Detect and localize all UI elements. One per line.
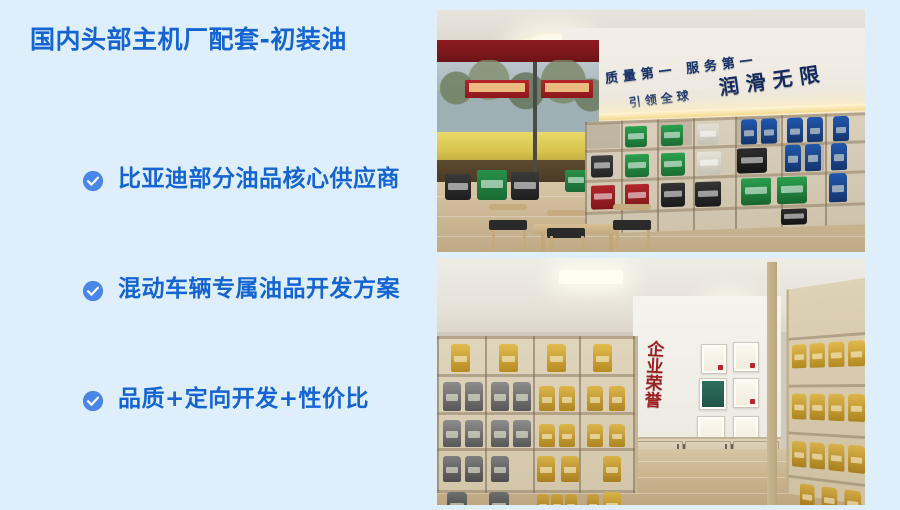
oil-bottle <box>587 424 603 447</box>
oil-bottle <box>810 343 825 368</box>
oil-bucket <box>697 151 721 175</box>
oil-bottle <box>761 118 777 144</box>
shelf-side-panel <box>767 262 777 505</box>
oil-bucket <box>565 170 587 192</box>
oil-bottle <box>807 117 823 143</box>
oil-bottle <box>800 483 815 505</box>
oil-bottle <box>848 340 865 367</box>
product-shelving-right <box>786 278 865 505</box>
oil-bottle <box>447 492 467 505</box>
chair <box>547 210 585 216</box>
oil-bottle <box>844 489 861 505</box>
oil-bottle <box>609 386 625 411</box>
product-shelving-left <box>437 336 638 493</box>
oil-bottle <box>561 456 579 482</box>
chair <box>613 204 651 210</box>
oil-bottle <box>443 420 461 447</box>
oil-bottle <box>848 394 865 422</box>
oil-bottle <box>828 443 844 471</box>
oil-bottle <box>787 117 803 143</box>
oil-bottle <box>829 173 847 203</box>
street-shopfront <box>465 80 529 98</box>
oil-bottle <box>603 492 621 505</box>
oil-bottle <box>443 456 461 482</box>
oil-bottle <box>828 341 844 367</box>
oil-bottle <box>465 456 483 482</box>
oil-bottle <box>491 420 509 447</box>
list-item: 品质+定向开发+性价比 <box>0 380 437 490</box>
oil-bottle <box>489 492 509 505</box>
left-content-column: 国内头部主机厂配套-初装油 比亚迪部分油品核心供应商 <box>0 0 437 510</box>
slide-root: 国内头部主机厂配套-初装油 比亚迪部分油品核心供应商 <box>0 0 900 510</box>
chair <box>613 220 651 230</box>
oil-bottle <box>537 456 555 482</box>
list-item-label: 比亚迪部分油品核心供应商 <box>118 160 400 192</box>
oil-bottle <box>833 116 849 142</box>
oil-bottle <box>491 382 509 411</box>
oil-bucket <box>591 155 613 178</box>
oil-bottle <box>609 424 625 447</box>
oil-bottle <box>547 344 566 372</box>
certificate-frame <box>699 378 727 410</box>
oil-bottle <box>513 420 531 447</box>
check-circle-icon <box>82 390 104 412</box>
oil-bottle <box>499 344 518 372</box>
oil-bottle <box>603 456 621 482</box>
oil-bottle <box>805 144 821 172</box>
oil-bucket <box>661 153 685 177</box>
oil-bottle <box>559 424 575 447</box>
page-title: 国内头部主机厂配套-初装油 <box>30 20 347 56</box>
oil-bucket <box>625 154 649 178</box>
oil-bottle <box>831 143 847 171</box>
oil-bucket <box>781 208 807 225</box>
product-shelving <box>585 112 865 234</box>
oil-bucket <box>737 148 767 174</box>
check-circle-icon <box>82 280 104 302</box>
oil-bottle <box>465 420 483 447</box>
oil-bottle <box>537 494 549 505</box>
oil-bottle <box>451 344 470 372</box>
oil-bottle <box>587 494 599 505</box>
certificate-frame <box>733 378 759 408</box>
oil-bottle <box>810 442 825 470</box>
list-item-label: 混动车辆专属油品开发方案 <box>118 270 400 302</box>
oil-bottle <box>785 144 801 172</box>
oil-bucket <box>661 125 683 147</box>
oil-bucket <box>777 176 807 204</box>
oil-bottle <box>465 382 483 411</box>
oil-bucket <box>661 183 685 208</box>
warehouse-display-photo: 企业荣誉 <box>437 258 865 505</box>
oil-bottle <box>792 394 806 420</box>
list-item: 比亚迪部分油品核心供应商 <box>0 160 437 270</box>
oil-bottle <box>513 382 531 411</box>
oil-bottle <box>828 394 844 421</box>
oil-bottle <box>821 486 837 505</box>
oil-bottle <box>792 344 806 368</box>
oil-bucket <box>591 185 615 210</box>
oil-bottle <box>551 494 563 505</box>
check-circle-icon <box>82 170 104 192</box>
oil-bottle <box>741 119 757 145</box>
certificate-frame <box>701 344 727 374</box>
oil-bottle <box>443 382 461 411</box>
oil-bottle <box>539 386 555 411</box>
oil-bottle <box>792 441 806 468</box>
oil-bucket <box>511 172 539 200</box>
oil-bucket <box>445 174 471 200</box>
oil-bottle <box>593 344 612 372</box>
oil-bottle <box>559 386 575 411</box>
oil-bucket <box>695 181 721 207</box>
oil-bucket <box>477 170 507 200</box>
oil-bottle <box>539 424 555 447</box>
oil-bottle <box>565 494 577 505</box>
chair <box>489 204 527 210</box>
certificate-frame <box>733 342 759 372</box>
oil-bottle <box>810 394 825 421</box>
bullet-list: 比亚迪部分油品核心供应商 混动车辆专属油品开发方案 <box>0 160 437 490</box>
oil-bucket <box>741 178 771 206</box>
oil-bucket <box>697 123 719 145</box>
oil-bottle <box>491 456 509 482</box>
oil-bottle <box>848 445 865 474</box>
ceiling-light <box>559 270 623 284</box>
list-item: 混动车辆专属油品开发方案 <box>0 270 437 380</box>
list-item-label: 品质+定向开发+性价比 <box>118 380 369 412</box>
street-shopfront <box>541 80 593 98</box>
chair <box>489 220 527 230</box>
window-frame <box>437 40 599 62</box>
oil-bucket <box>625 126 647 148</box>
wall-calligraphy-text: 企业荣誉 <box>641 340 662 409</box>
oil-bottle <box>587 386 603 411</box>
showroom-storefront-photo: 质量第一 服务第一 引领全球 润滑无限 <box>437 10 865 252</box>
